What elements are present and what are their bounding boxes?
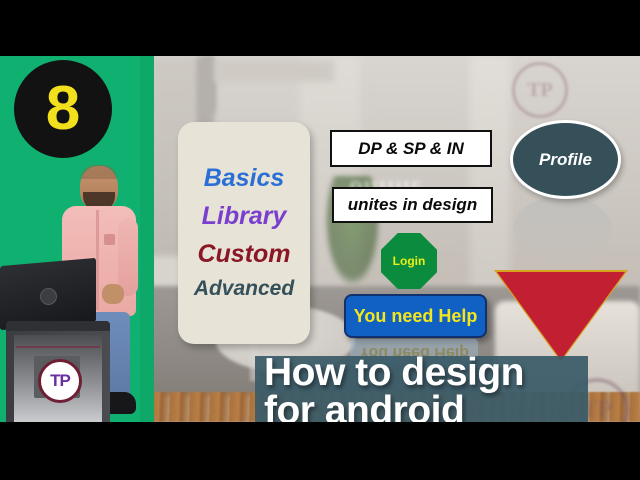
laptop-logo-icon: [40, 288, 57, 305]
presenter-arm: [118, 218, 138, 296]
episode-number-label: 8: [46, 78, 80, 140]
title-banner-line2: for android: [264, 392, 594, 422]
presenter-shirt-seam: [96, 210, 99, 310]
background-duct: [214, 60, 334, 82]
label-box-dp-sp-in[interactable]: DP & SP & IN: [330, 130, 492, 167]
help-button-label: You need Help: [354, 306, 478, 327]
podium-accent-line: [16, 346, 100, 348]
screenshot-root: online TP TP TP 8 T: [0, 0, 640, 480]
label-box-unites-in-design-text: unites in design: [348, 195, 477, 215]
episode-number-badge: 8: [14, 60, 112, 158]
help-button[interactable]: You need Help: [344, 294, 487, 338]
profile-shape-reflection: [513, 196, 612, 262]
triangle-shape: [497, 272, 625, 360]
label-box-dp-sp-in-text: DP & SP & IN: [358, 139, 463, 159]
profile-shape[interactable]: Profile: [510, 120, 621, 199]
menu-item-basics[interactable]: Basics: [204, 162, 285, 196]
presenter-shirt-pocket: [104, 234, 115, 245]
menu-card: Basics Library Custom Advanced: [178, 122, 310, 344]
presenter-hair: [81, 165, 117, 179]
label-box-unites-in-design[interactable]: unites in design: [332, 187, 493, 223]
green-screen-edge: [140, 56, 154, 422]
title-banner-text: How to design for android: [264, 354, 594, 422]
menu-item-advanced[interactable]: Advanced: [194, 275, 294, 303]
watermark-logo-icon: TP: [512, 62, 568, 118]
podium-top: [6, 321, 110, 331]
title-banner-line1: How to design: [264, 354, 594, 392]
tp-logo-icon: TP: [38, 359, 82, 403]
profile-shape-label: Profile: [539, 150, 592, 170]
login-button-label: Login: [393, 254, 426, 268]
presenter-hand: [102, 284, 124, 304]
video-frame: online TP TP TP 8 T: [0, 56, 640, 422]
menu-item-custom[interactable]: Custom: [197, 238, 290, 272]
menu-item-library[interactable]: Library: [202, 200, 287, 234]
tp-logo-label: TP: [50, 371, 70, 391]
